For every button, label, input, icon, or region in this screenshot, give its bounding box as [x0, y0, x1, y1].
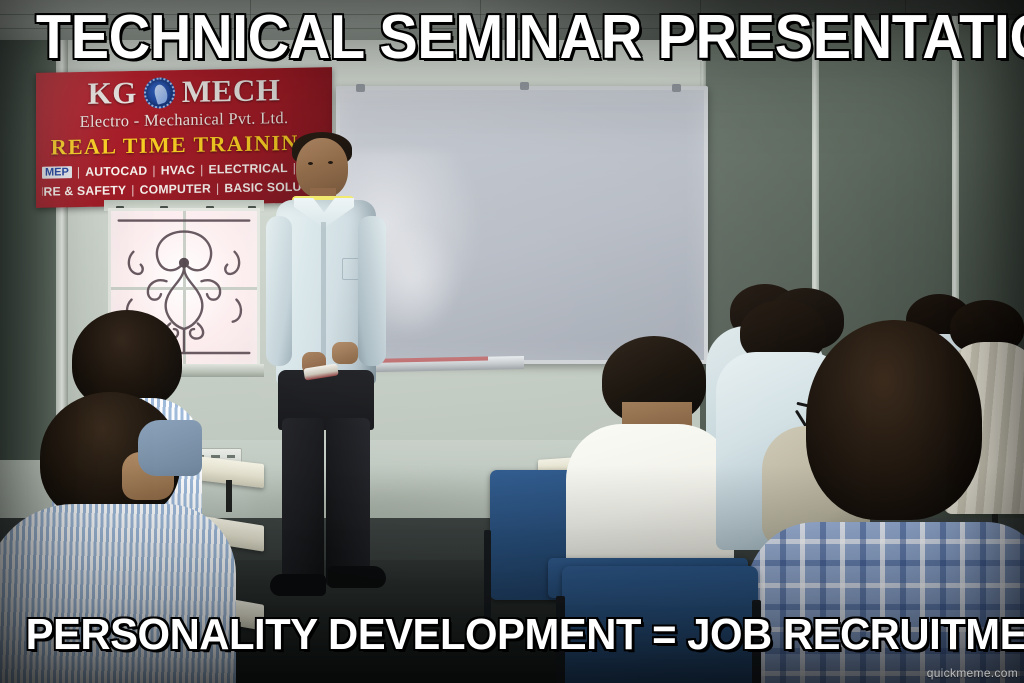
wall-panel-divider: [952, 16, 959, 316]
quickmeme-watermark: quickmeme.com: [927, 666, 1018, 680]
presenter-shirt-placket: [321, 222, 326, 372]
presenter-shoe-right: [328, 566, 386, 588]
student-plaid-hair: [806, 320, 982, 520]
presenter-arm-right: [358, 216, 386, 366]
presenter: [252, 130, 398, 600]
student-shirt-plaid: [746, 522, 1024, 683]
presenter-leg-right: [326, 418, 370, 586]
presenter-hand-right: [332, 342, 358, 364]
presenter-shoe-left: [270, 574, 326, 596]
meme-image: KG MECH Electro - Mechanical Pvt. Ltd. R…: [0, 0, 1024, 683]
whiteboard-mount-clip: [672, 84, 681, 92]
whiteboard-mount-clip: [356, 84, 365, 92]
photo-scene: KG MECH Electro - Mechanical Pvt. Ltd. R…: [0, 0, 1024, 683]
whiteboard-mount-clip: [520, 82, 529, 90]
presenter-eye: [308, 162, 313, 165]
student-shirt: [0, 504, 236, 683]
chair-frame: [752, 600, 761, 683]
chair-frame: [484, 530, 491, 620]
chair: [562, 566, 758, 683]
chair-frame: [556, 596, 565, 683]
presenter-arm-left: [266, 216, 292, 366]
presenter-eye: [328, 161, 333, 164]
student-collar: [138, 420, 202, 476]
presenter-leg-left: [282, 418, 324, 586]
